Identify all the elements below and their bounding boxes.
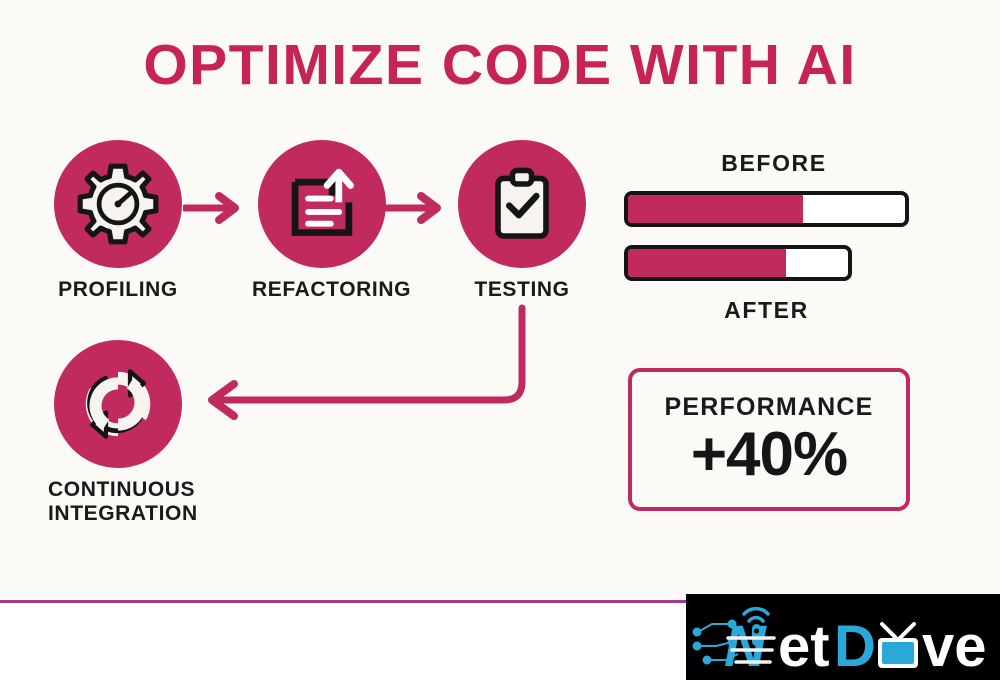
bar-caption-after: AFTER	[624, 297, 909, 324]
step-icon-circle-profiling	[54, 140, 182, 268]
performance-callout-box: PERFORMANCE +40%	[628, 368, 910, 511]
progress-bar-fill	[628, 249, 786, 277]
clipboard-check-icon	[482, 164, 562, 244]
progress-bar-before[interactable]	[624, 191, 909, 227]
workflow-step-profiling[interactable]: PROFILING	[48, 140, 188, 302]
step-icon-circle-continuous-integration	[54, 340, 182, 468]
svg-text:ve: ve	[922, 614, 987, 679]
workflow-step-testing[interactable]: TESTING	[452, 140, 592, 302]
step-icon-circle-testing	[458, 140, 586, 268]
svg-text:et: et	[778, 614, 830, 679]
bar-caption-before: BEFORE	[624, 150, 924, 177]
gear-speedometer-icon	[75, 161, 161, 247]
before-after-comparison: BEFORE AFTER	[624, 150, 924, 324]
workflow-step-label: TESTING	[452, 278, 592, 302]
progress-bar-track	[624, 245, 852, 281]
elbow-arrow-left-icon	[180, 300, 550, 435]
performance-label: PERFORMANCE	[664, 393, 873, 422]
svg-text:N: N	[724, 614, 767, 679]
progress-bar-fill	[628, 195, 803, 223]
progress-bar-track	[624, 191, 909, 227]
document-upload-icon	[280, 162, 364, 246]
workflow-step-continuous-integration[interactable]: CONTINUOUS INTEGRATION	[48, 340, 188, 525]
arrow-right-icon	[385, 190, 443, 231]
refresh-cycle-icon	[75, 361, 161, 447]
page-title: OPTIMIZE CODE WITH AI	[0, 32, 1000, 98]
infographic-poster: OPTIMIZE CODE WITH AI PROFILING	[0, 0, 1000, 680]
arrow-right-icon	[183, 190, 241, 231]
workflow-step-refactoring[interactable]: REFACTORING	[252, 140, 392, 302]
step-icon-circle-refactoring	[258, 140, 386, 268]
workflow-step-label: CONTINUOUS INTEGRATION	[48, 478, 188, 525]
workflow-step-label: PROFILING	[48, 278, 188, 302]
performance-value: +40%	[691, 424, 847, 486]
progress-bar-after[interactable]	[624, 245, 852, 281]
svg-text:D: D	[834, 614, 876, 679]
netdove-logo: N et D ve	[686, 594, 1000, 680]
workflow-step-label: REFACTORING	[252, 278, 392, 302]
